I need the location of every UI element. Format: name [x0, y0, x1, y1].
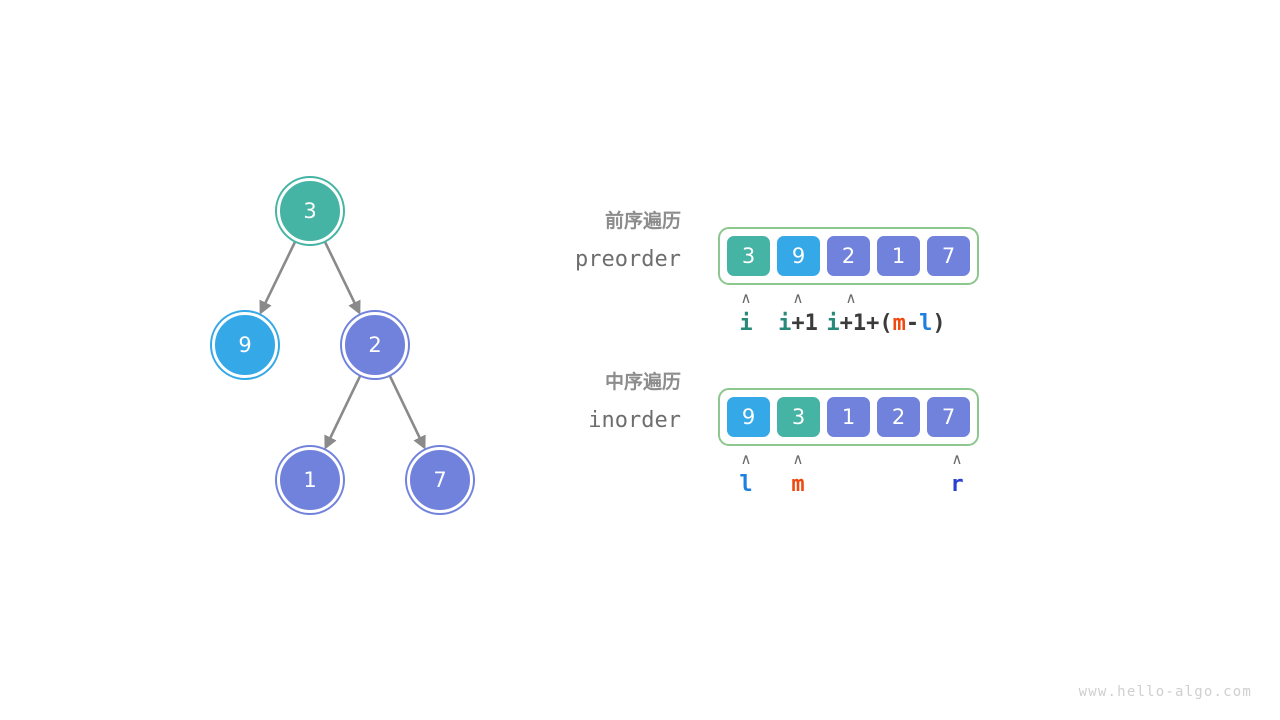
diagram-canvas: 39217 前序遍历preorder39217∧i∧i+1∧i+1+(m-l)中… — [0, 0, 1280, 720]
index-label: l — [739, 474, 752, 496]
index-label-part: l — [739, 472, 752, 497]
watermark: www.hello-algo.com — [1079, 684, 1252, 700]
index-label: m — [791, 474, 804, 496]
index-markers-inorder: ∧l∧m∧r — [0, 0, 1280, 720]
index-label-part: r — [950, 472, 963, 497]
traversal-panel: 前序遍历preorder39217∧i∧i+1∧i+1+(m-l)中序遍历ino… — [0, 0, 1280, 720]
caret-icon: ∧ — [741, 452, 752, 467]
index-label-part: m — [791, 472, 804, 497]
caret-icon: ∧ — [952, 452, 963, 467]
index-label: r — [950, 474, 963, 496]
caret-icon: ∧ — [793, 452, 804, 467]
